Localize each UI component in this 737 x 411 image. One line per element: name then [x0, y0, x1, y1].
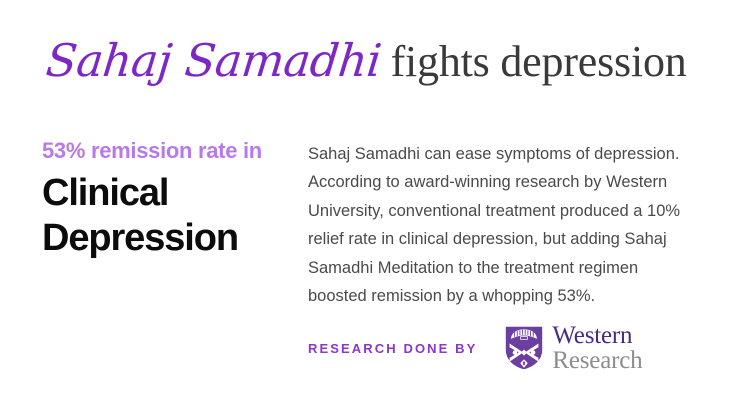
logo-line-western: Western — [552, 323, 642, 349]
attribution-footer: RESEARCH DONE BY — [308, 320, 698, 376]
headline-script-part: Sahaj Samadhi — [44, 38, 395, 83]
western-research-logo[interactable]: Western Research — [505, 323, 642, 374]
headline-serif-part: fights depression — [391, 40, 687, 84]
logo-line-research: Research — [552, 348, 642, 374]
page-title: Sahaj Samadhi fights depression — [44, 38, 704, 100]
promo-card: Sahaj Samadhi fights depression 53% remi… — [0, 0, 737, 411]
statistic-title: Clinical Depression — [42, 171, 292, 261]
research-done-by-label: RESEARCH DONE BY — [308, 341, 477, 356]
statistic-block: 53% remission rate in Clinical Depressio… — [42, 138, 292, 260]
western-shield-crest-icon — [505, 326, 543, 370]
body-paragraph: Sahaj Samadhi can ease symptoms of depre… — [308, 140, 690, 310]
body-copy-block: Sahaj Samadhi can ease symptoms of depre… — [308, 140, 690, 310]
statistic-lede: 53% remission rate in — [42, 138, 292, 165]
western-research-wordmark: Western Research — [552, 323, 642, 374]
